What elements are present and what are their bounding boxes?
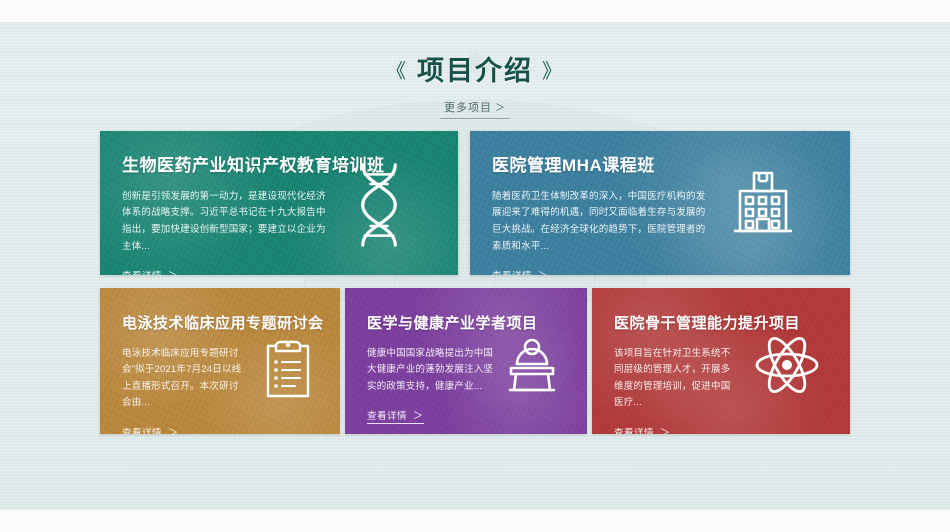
ornament-right-icon: 》 — [542, 62, 564, 82]
program-card-health-scholar[interactable]: 医学与健康产业学者项目 健康中国国家战略提出为中国大健康产业的蓬勃发展注入坚实的… — [345, 288, 587, 434]
program-introduction-page: 《项目介绍》 更多项目＞ 生物医药产业知识产权教育培训班 创新是引领发展的第一动… — [0, 0, 950, 532]
card-detail-label: 查看详情 — [122, 271, 162, 275]
card-title: 医院管理MHA课程班 — [492, 157, 850, 176]
program-card-mha[interactable]: 医院管理MHA课程班 随着医药卫生体制改革的深入，中国医疗机构的发展迎来了难得的… — [470, 131, 850, 275]
page-title-text: 项目介绍 — [417, 56, 533, 86]
card-content: 医院管理MHA课程班 随着医药卫生体制改革的深入，中国医疗机构的发展迎来了难得的… — [470, 131, 850, 275]
card-detail-link[interactable]: 查看详情＞ — [614, 424, 671, 434]
card-content: 电泳技术临床应用专题研讨会 电泳技术临床应用专题研讨会”拟于2021年7月24日… — [100, 288, 340, 434]
program-card-hospital-leadership[interactable]: 医院骨干管理能力提升项目 该项目旨在针对卫生系统不同层级的管理人才，开展多维度的… — [592, 288, 850, 434]
more-programs-label: 更多项目 — [444, 102, 492, 114]
chevron-right-icon: ＞ — [168, 428, 179, 434]
card-detail-label: 查看详情 — [122, 428, 162, 434]
card-description: 该项目旨在针对卫生系统不同层级的管理人才，开展多维度的管理培训，促进中国医疗..… — [614, 346, 740, 413]
card-content: 医院骨干管理能力提升项目 该项目旨在针对卫生系统不同层级的管理人才，开展多维度的… — [592, 288, 850, 434]
page-title: 《项目介绍》 — [377, 58, 573, 85]
chevron-right-icon: ＞ — [495, 103, 506, 114]
chevron-right-icon: ＞ — [413, 411, 424, 422]
chevron-right-icon: ＞ — [660, 428, 671, 434]
card-detail-label: 查看详情 — [367, 411, 407, 422]
chevron-right-icon: ＞ — [538, 271, 549, 275]
section-header: 《项目介绍》 更多项目＞ — [0, 58, 950, 119]
card-description: 随着医药卫生体制改革的深入，中国医疗机构的发展迎来了难得的机遇，同时又面临着生存… — [492, 189, 714, 256]
card-detail-label: 查看详情 — [492, 271, 532, 275]
card-detail-link[interactable]: 查看详情＞ — [367, 407, 424, 424]
more-programs-link[interactable]: 更多项目＞ — [440, 101, 510, 119]
card-description: 电泳技术临床应用专题研讨会”拟于2021年7月24日以线上直播形式召开。本次研讨… — [122, 346, 248, 413]
chevron-right-icon: ＞ — [168, 271, 179, 275]
card-description: 创新是引领发展的第一动力，是建设现代化经济体系的战略支撑。习近平总书记在十九大报… — [122, 189, 334, 256]
card-description: 健康中国国家战略提出为中国大健康产业的蓬勃发展注入坚实的政策支持，健康产业... — [367, 346, 495, 396]
card-detail-link[interactable]: 查看详情＞ — [122, 424, 179, 434]
program-card-biopharma-ip[interactable]: 生物医药产业知识产权教育培训班 创新是引领发展的第一动力，是建设现代化经济体系的… — [100, 131, 458, 275]
card-detail-label: 查看详情 — [614, 428, 654, 434]
card-content: 医学与健康产业学者项目 健康中国国家战略提出为中国大健康产业的蓬勃发展注入坚实的… — [345, 288, 587, 424]
card-detail-link[interactable]: 查看详情＞ — [122, 267, 179, 275]
card-detail-link[interactable]: 查看详情＞ — [492, 267, 549, 275]
program-card-electrophoresis[interactable]: 电泳技术临床应用专题研讨会 电泳技术临床应用专题研讨会”拟于2021年7月24日… — [100, 288, 340, 434]
card-title: 医院骨干管理能力提升项目 — [614, 316, 850, 333]
card-title: 电泳技术临床应用专题研讨会 — [122, 316, 340, 333]
card-title: 生物医药产业知识产权教育培训班 — [122, 157, 458, 176]
card-content: 生物医药产业知识产权教育培训班 创新是引领发展的第一动力，是建设现代化经济体系的… — [100, 131, 458, 275]
card-title: 医学与健康产业学者项目 — [367, 316, 587, 333]
ornament-left-icon: 《 — [386, 62, 408, 82]
